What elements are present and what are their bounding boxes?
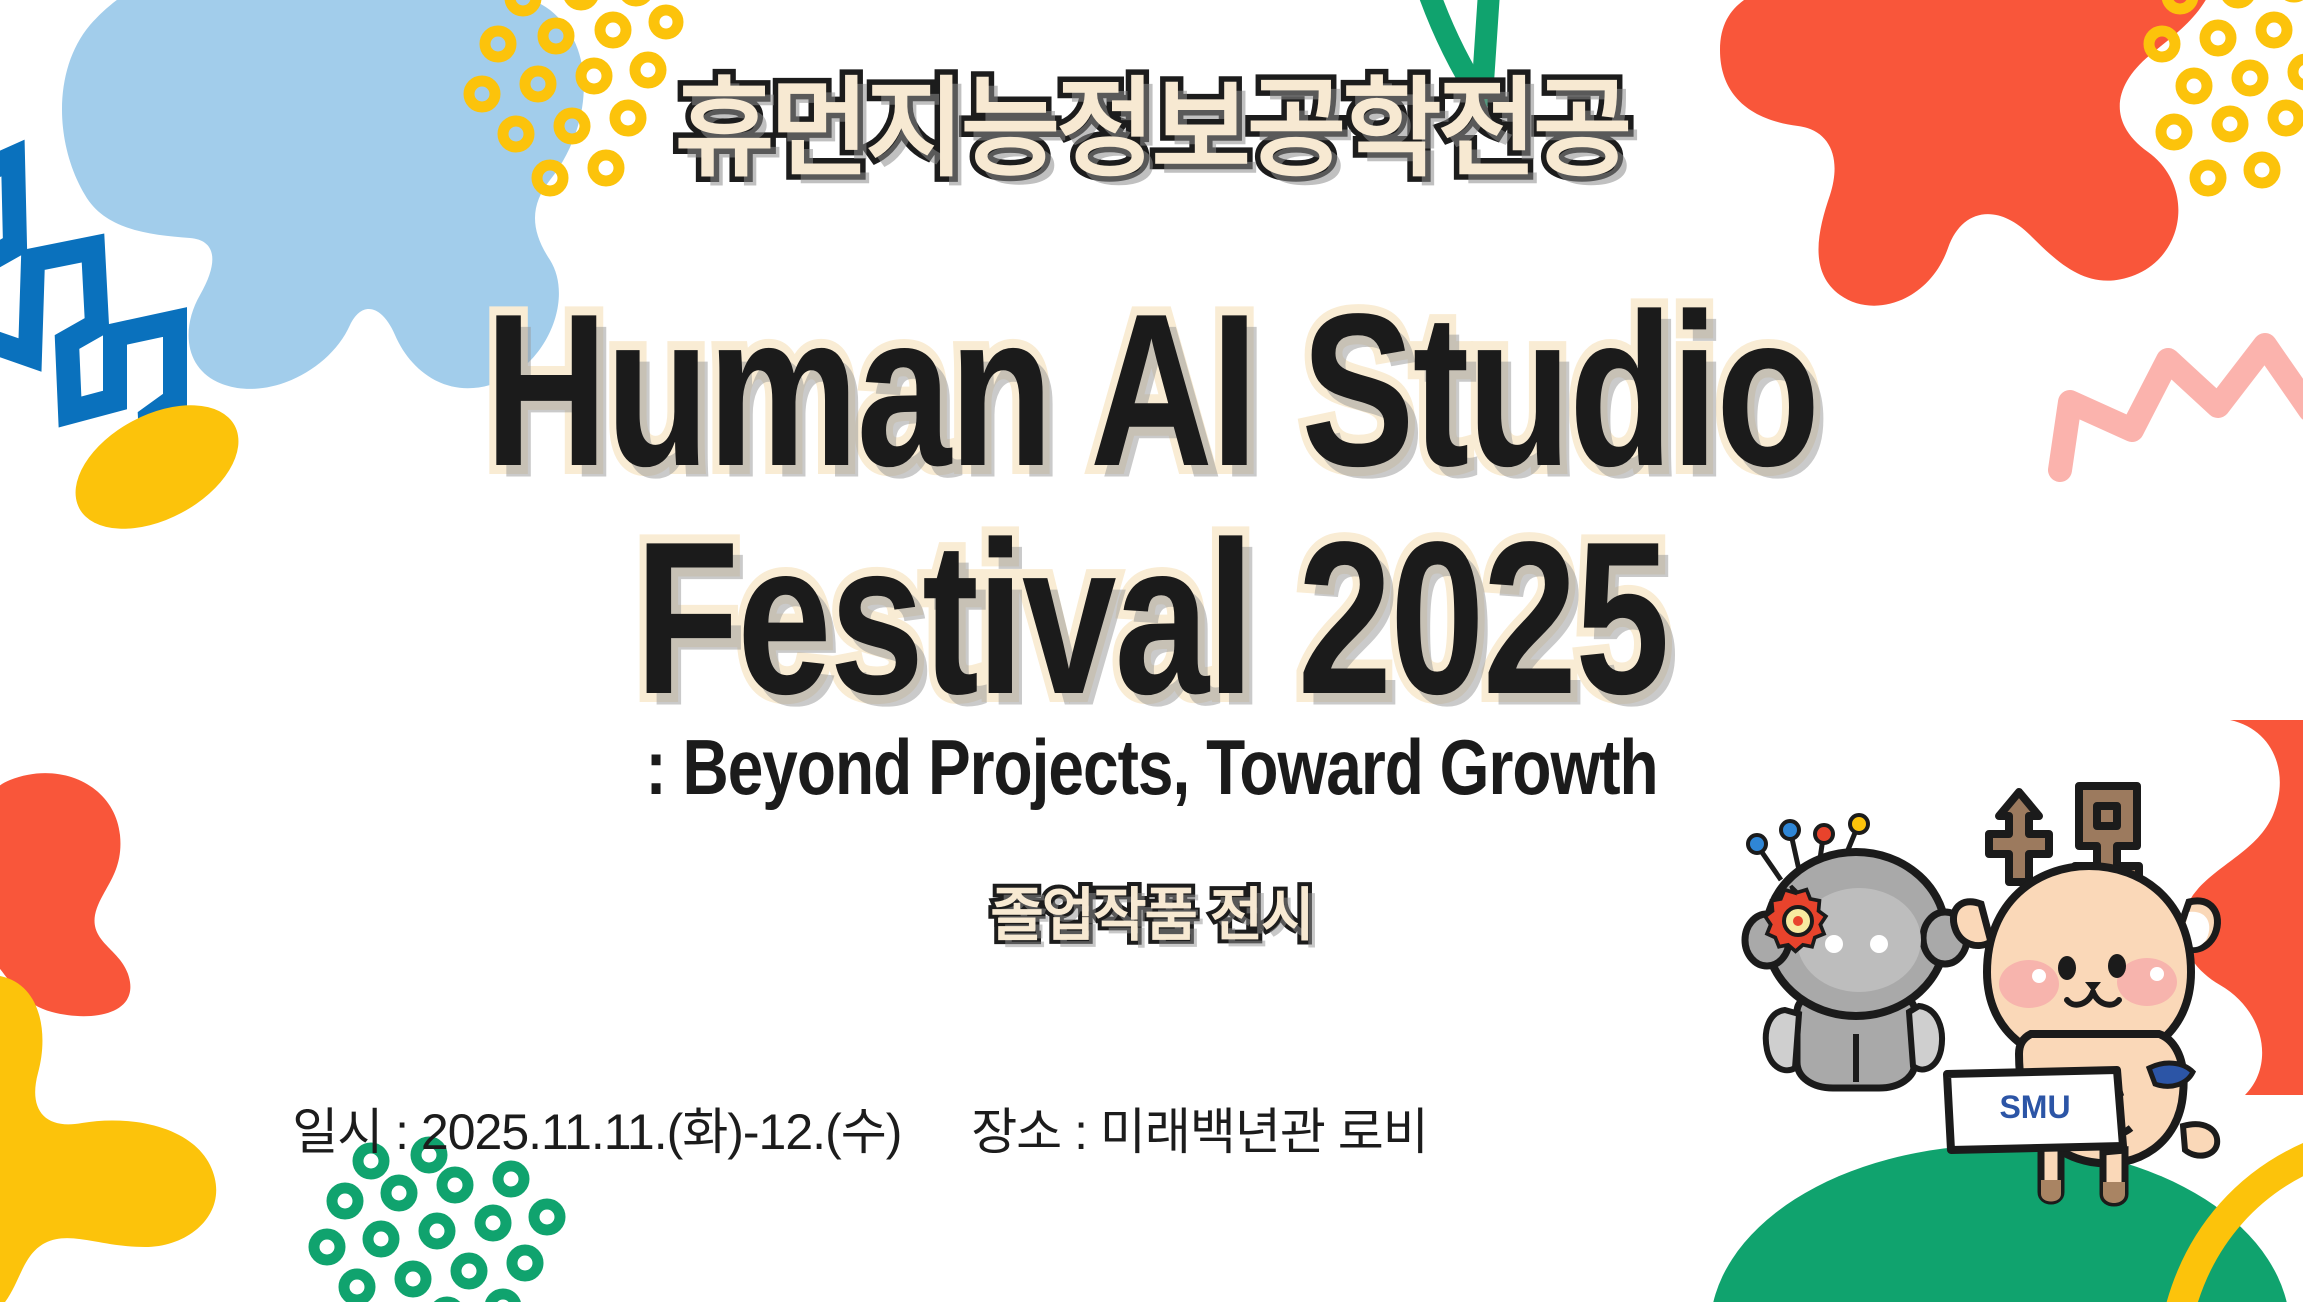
department-title: 휴먼지능정보공학전공 xyxy=(0,42,2303,198)
event-venue-label: 장소 : 미래백년관 로비 xyxy=(971,1104,1428,1160)
event-date-label: 일시 : 2025.11.11.(화)-12.(수) xyxy=(292,1104,901,1160)
mascot-illustration: SMU xyxy=(1719,762,2279,1302)
poster-canvas: SMU 휴먼지능정보공학전공 Human AI Studio Festival … xyxy=(0,0,2303,1302)
main-title-line-2: Festival 2025 xyxy=(0,510,2303,728)
antler-sang-glyph xyxy=(1989,792,2049,882)
main-title-line-1: Human AI Studio xyxy=(0,282,2303,500)
deer-mascot-figure: SMU xyxy=(1947,786,2217,1203)
event-info-line: 일시 : 2025.11.11.(화)-12.(수) 장소 : 미래백년관 로비 xyxy=(0,1092,1720,1164)
smu-laptop: SMU xyxy=(1947,1070,2123,1150)
laptop-smu-text: SMU xyxy=(1999,1089,2070,1125)
robot-figure xyxy=(1745,815,1967,1088)
